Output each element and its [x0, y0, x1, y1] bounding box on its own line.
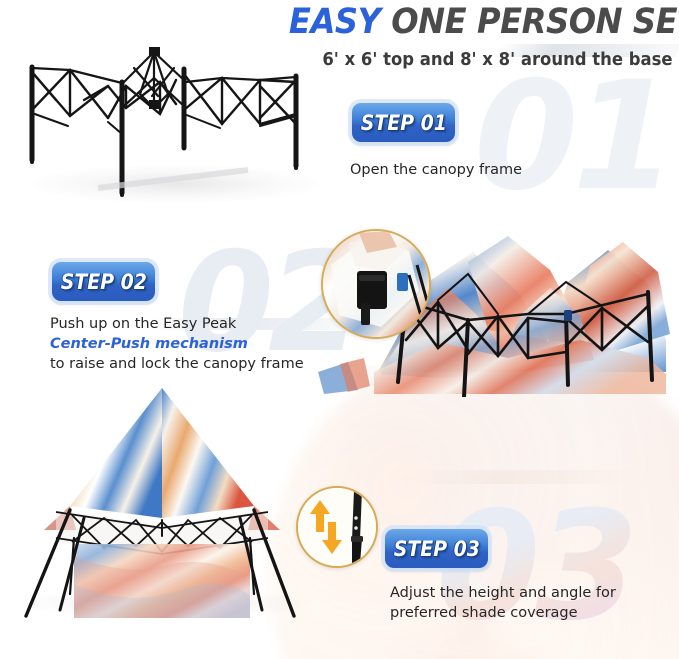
step-02-emphasis: Center-Push mechanism: [50, 336, 248, 352]
step-02-badge[interactable]: STEP 02: [52, 262, 155, 301]
illustration-step-03-canopy: [12, 378, 312, 618]
step-03-line-1: Adjust the height and angle for: [390, 585, 616, 601]
step-02-line-3: to raise and lock the canopy frame: [50, 356, 304, 372]
step-02-line-1: Push up on the Easy Peak: [50, 316, 236, 332]
page-title: EASY ONE PERSON SETUP: [289, 2, 679, 42]
background-band-step3: [406, 470, 642, 484]
inset-center-push-mechanism: [321, 229, 431, 339]
illustration-step-01-frame: [8, 38, 326, 198]
step-01-description: Open the canopy frame: [350, 160, 522, 180]
promo-infographic: 01 02 03 EASY ONE PERSON SETUP 6' x 6' t…: [0, 0, 679, 659]
inset-height-adjust: [296, 486, 378, 568]
title-accent-word: EASY: [289, 2, 381, 42]
step-02-description: Push up on the Easy PeakCenter-Push mech…: [50, 314, 304, 374]
page-subtitle: 6' x 6' top and 8' x 8' around the base: [323, 50, 673, 70]
watermark-step-01: 01: [474, 62, 671, 212]
step-03-line-2: preferred shade coverage: [390, 605, 578, 621]
step-03-description: Adjust the height and angle forpreferred…: [390, 583, 616, 623]
step-01-badge[interactable]: STEP 01: [352, 103, 455, 142]
step-03-badge[interactable]: STEP 03: [385, 529, 488, 568]
step-02-badge-label: STEP 02: [60, 270, 146, 294]
title-rest: ONE PERSON SETUP: [391, 2, 679, 42]
step-01-badge-label: STEP 01: [360, 111, 446, 135]
step-03-badge-label: STEP 03: [393, 537, 479, 561]
